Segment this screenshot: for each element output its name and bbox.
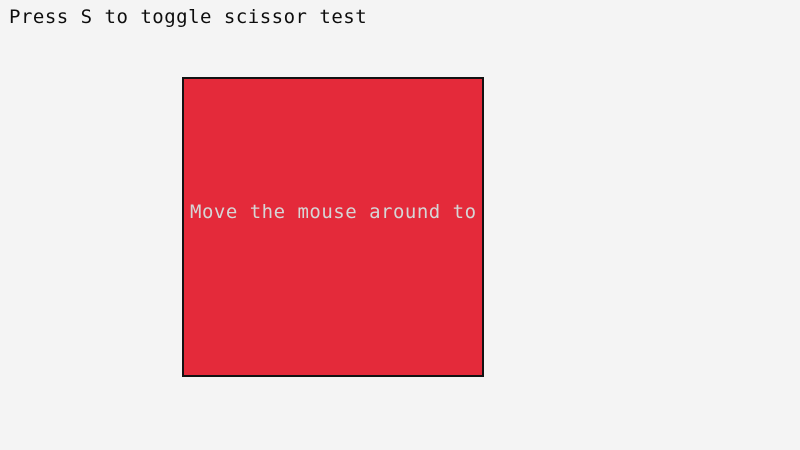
- app-window: Press S to toggle scissor test Move the …: [0, 0, 800, 450]
- scissor-test-rectangle[interactable]: Move the mouse around to r: [182, 77, 484, 377]
- scissor-clipped-text: Move the mouse around to r: [190, 200, 482, 224]
- instruction-text: Press S to toggle scissor test: [9, 5, 367, 29]
- scissor-clip-area: Move the mouse around to r: [184, 79, 482, 375]
